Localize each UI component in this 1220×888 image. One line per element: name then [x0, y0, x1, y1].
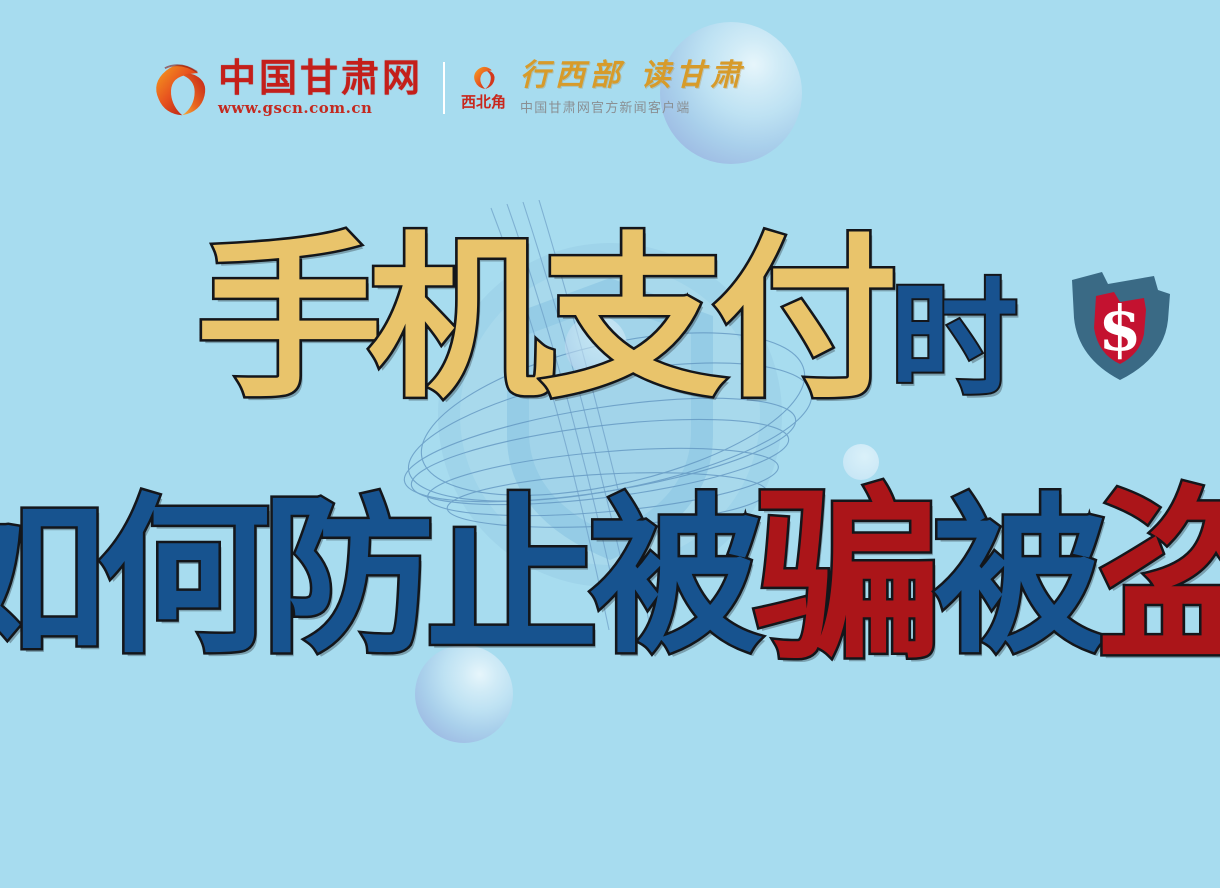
app-logo: 西北角: [461, 64, 506, 112]
headline-char: 机: [368, 236, 555, 405]
brand-url: www.gscn.com.cn: [218, 99, 423, 117]
headline-char: 支: [540, 236, 727, 405]
brand-name-cn: 中国甘肃网: [218, 59, 423, 98]
headline-char: 止: [425, 497, 598, 660]
site-branding-header: 中国甘肃网 www.gscn.com.cn 西北: [150, 48, 745, 128]
headline-char: 被: [933, 497, 1106, 660]
brand-text-block: 中国甘肃网 www.gscn.com.cn: [218, 59, 423, 118]
gansu-net-swirl-logo-icon: [150, 57, 212, 119]
background-decoration: [0, 0, 1220, 888]
headline-char: 盗: [1097, 488, 1220, 667]
headline-line-2: 如何防止被骗被盗: [0, 482, 1220, 661]
headline-line-1: 手机支付时: [0, 236, 1220, 405]
headline-char: 手: [196, 236, 383, 405]
headline-char: 骗: [753, 488, 943, 667]
headline-char: 被: [589, 497, 762, 660]
headline-char: 防: [261, 497, 434, 660]
svg-text:$: $: [1098, 292, 1141, 365]
header-divider: [443, 62, 445, 114]
bubble-small-mid: [843, 444, 879, 480]
poster-canvas: 中国甘肃网 www.gscn.com.cn 西北: [0, 0, 1220, 888]
money-shield-icon: $: [1058, 262, 1182, 388]
headline-char: 付: [712, 236, 899, 405]
headline-char: 何: [97, 497, 270, 660]
app-logo-label: 西北角: [461, 91, 506, 112]
slogan-text: 行西部 读甘肃: [520, 61, 745, 91]
shield-globe-watermark: [395, 200, 825, 630]
xibeijiao-swirl-icon: [471, 64, 497, 90]
slogan-block: 行西部 读甘肃 中国甘肃网官方新闻客户端: [520, 61, 745, 116]
headline-char: 如: [0, 497, 107, 660]
bubble-faint-center: [565, 315, 627, 377]
bubble-medium-bottom: [415, 645, 513, 743]
sub-slogan-text: 中国甘肃网官方新闻客户端: [520, 97, 745, 116]
headline-char: 时: [890, 280, 1019, 401]
